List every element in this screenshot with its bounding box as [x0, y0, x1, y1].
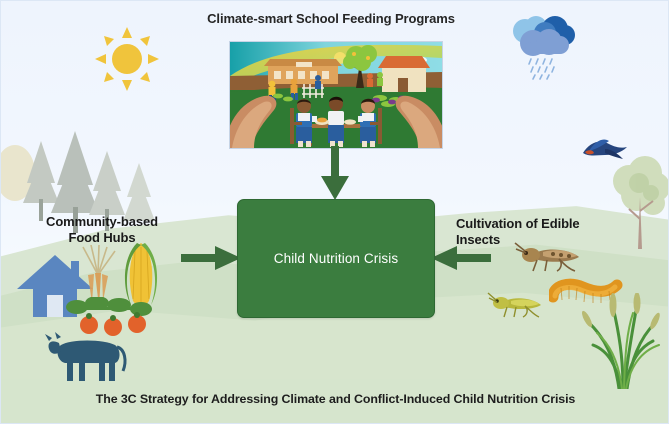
infographic-figure: Climate-smart School Feeding Programs Ch…: [0, 0, 669, 424]
arrow-right-to-center: [429, 244, 491, 272]
label-right-line2: Insects: [456, 232, 631, 248]
sun-icon: [93, 25, 161, 93]
cow-illustration: [41, 331, 133, 383]
label-right-line1: Cultivation of Edible: [456, 216, 631, 232]
millet-grass-illustration: [575, 293, 669, 389]
center-node: Child Nutrition Crisis: [237, 199, 435, 318]
arrow-left-to-center: [181, 244, 243, 272]
grasshopper-green-illustration: [487, 291, 545, 319]
figure-caption: The 3C Strategy for Addressing Climate a…: [1, 392, 669, 406]
page-title: Climate-smart School Feeding Programs: [131, 11, 531, 26]
label-left-line1: Community-based: [17, 214, 187, 230]
arrow-top-down: [317, 146, 353, 202]
label-community-based-food-hubs: Community-based Food Hubs: [17, 214, 187, 246]
label-left-line2: Food Hubs: [17, 230, 187, 246]
label-cultivation-of-edible-insects: Cultivation of Edible Insects: [456, 216, 631, 248]
school-feeding-photo: [229, 41, 443, 149]
center-node-label: Child Nutrition Crisis: [274, 251, 398, 266]
